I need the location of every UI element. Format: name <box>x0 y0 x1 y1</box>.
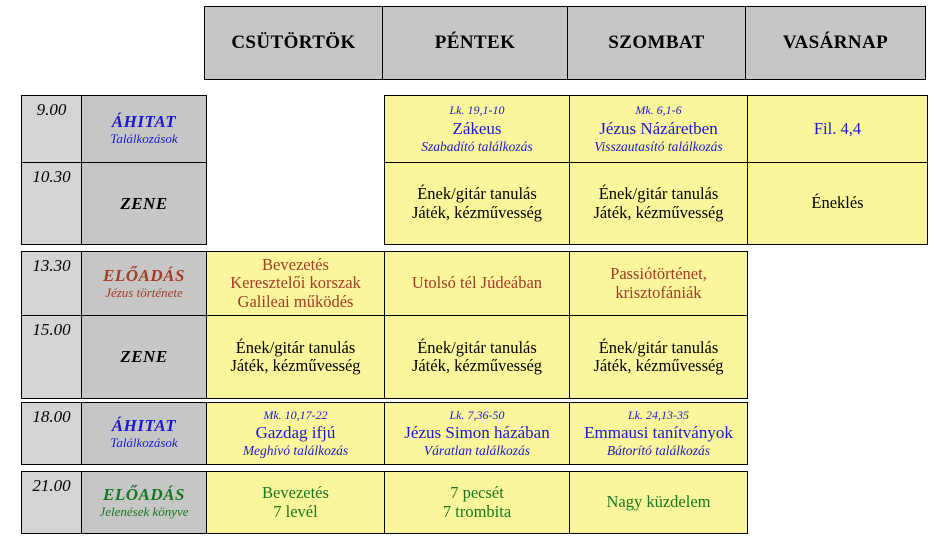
program-line: Ének/gitár tanulás <box>417 339 537 357</box>
empty-slot <box>748 403 928 465</box>
time-label: 18.00 <box>21 402 82 465</box>
activity-label-sub: Találkozások <box>110 436 177 451</box>
program-line: Játék, kézművesség <box>593 204 723 222</box>
empty-slot <box>748 472 928 534</box>
activity-label-cell: ÁHITATTalálkozások <box>81 402 207 465</box>
program-cell: Ének/gitár tanulásJáték, kézművesség <box>569 162 748 245</box>
program-cell: Passiótörténet,krisztofániák <box>569 251 748 316</box>
program-cell: Mk. 10,17-22Gazdag ifjúMeghívó találkozá… <box>206 402 385 465</box>
activity-label-main: ZENE <box>120 194 167 213</box>
program-title: Jézus Názáretben <box>599 119 717 138</box>
time-label: 10.30 <box>21 162 82 245</box>
program-line: Játék, kézművesség <box>412 357 542 375</box>
program-cell: 7 pecsét7 trombita <box>384 471 570 534</box>
day-header-2: PÉNTEK <box>382 6 568 80</box>
program-line: Játék, kézművesség <box>230 357 360 375</box>
weekly-schedule-table: CSÜTÖRTÖKPÉNTEKSZOMBATVASÁRNAP 9.00ÁHITA… <box>0 0 938 538</box>
program-subtitle: Bátorító találkozás <box>607 443 710 458</box>
activity-label-sub: Jelenések könyve <box>99 505 188 520</box>
program-subtitle: Meghívó találkozás <box>243 443 348 458</box>
day-header-3: SZOMBAT <box>567 6 746 80</box>
activity-label-main: ÁHITAT <box>112 416 176 435</box>
bible-reference: Lk. 19,1-10 <box>450 104 505 117</box>
time-label: 15.00 <box>21 315 82 399</box>
empty-slot <box>748 316 928 399</box>
activity-label-main: ELŐADÁS <box>103 266 185 285</box>
bible-reference: Lk. 7,36-50 <box>450 409 505 422</box>
program-line: Bevezetés <box>262 484 329 502</box>
day-header-1: CSÜTÖRTÖK <box>204 6 383 80</box>
program-cell: Lk. 24,13-35Emmausi tanítványokBátorító … <box>569 402 748 465</box>
program-line: Bevezetés <box>262 256 329 274</box>
time-label: 13.30 <box>21 251 82 316</box>
program-cell: Éneklés <box>747 162 928 245</box>
program-cell: Bevezetés7 levél <box>206 471 385 534</box>
program-title: Utolsó tél Júdeában <box>412 274 542 292</box>
program-cell: Mk. 6,1-6Jézus NázáretbenVisszautasító t… <box>569 95 748 163</box>
program-cell: Lk. 7,36-50Jézus Simon házábanVáratlan t… <box>384 402 570 465</box>
time-label: 21.00 <box>21 471 82 534</box>
bible-reference: Mk. 6,1-6 <box>635 104 681 117</box>
program-line: 7 trombita <box>443 503 511 521</box>
program-title: Jézus Simon házában <box>404 423 549 442</box>
time-label: 9.00 <box>21 95 82 163</box>
bible-reference: Lk. 24,13-35 <box>628 409 689 422</box>
program-line: Játék, kézművesség <box>412 204 542 222</box>
program-line: krisztofániák <box>615 284 701 302</box>
activity-label-sub: Jézus története <box>105 286 183 301</box>
activity-label-cell: ZENE <box>81 315 207 399</box>
activity-label-sub: Találkozások <box>110 132 177 147</box>
program-cell: Utolsó tél Júdeában <box>384 251 570 316</box>
empty-slot <box>207 96 385 163</box>
activity-label-cell: ZENE <box>81 162 207 245</box>
program-line: Játék, kézművesség <box>593 357 723 375</box>
program-cell: Lk. 19,1-10ZákeusSzabadító találkozás <box>384 95 570 163</box>
empty-slot <box>748 252 928 316</box>
program-cell: Fil. 4,4 <box>747 95 928 163</box>
program-subtitle: Visszautasító találkozás <box>594 139 722 154</box>
activity-label-main: ZENE <box>120 347 167 366</box>
program-line: 7 pecsét <box>450 484 504 502</box>
program-cell: BevezetésKeresztelői korszakGalileai műk… <box>206 251 385 316</box>
activity-label-cell: ÁHITATTalálkozások <box>81 95 207 163</box>
program-subtitle: Váratlan találkozás <box>424 443 530 458</box>
activity-label-cell: ELŐADÁSJézus története <box>81 251 207 316</box>
activity-label-main: ELŐADÁS <box>103 485 185 504</box>
program-line: Ének/gitár tanulás <box>236 339 356 357</box>
schedule-block-1: 9.00ÁHITATTalálkozásokLk. 19,1-10ZákeusS… <box>22 96 928 245</box>
program-cell: Ének/gitár tanulásJáték, kézművesség <box>384 315 570 399</box>
schedule-block-2: 13.30ELŐADÁSJézus történeteBevezetésKere… <box>22 252 928 399</box>
schedule-block-3: 18.00ÁHITATTalálkozásokMk. 10,17-22Gazda… <box>22 403 928 465</box>
program-cell: Nagy küzdelem <box>569 471 748 534</box>
program-line: Passiótörténet, <box>610 265 707 283</box>
activity-label-cell: ELŐADÁSJelenések könyve <box>81 471 207 534</box>
program-title: Zákeus <box>452 119 501 138</box>
program-line: Ének/gitár tanulás <box>599 185 719 203</box>
program-title: Nagy küzdelem <box>606 493 710 511</box>
program-title: Gazdag ifjú <box>256 423 336 442</box>
program-title: Éneklés <box>811 194 863 212</box>
program-cell: Ének/gitár tanulásJáték, kézművesség <box>384 162 570 245</box>
program-title: Fil. 4,4 <box>814 120 861 138</box>
schedule-block-4: 21.00ELŐADÁSJelenések könyveBevezetés7 l… <box>22 472 928 534</box>
program-line: Ének/gitár tanulás <box>599 339 719 357</box>
program-title: Emmausi tanítványok <box>584 423 733 442</box>
program-line: Galileai működés <box>238 293 354 311</box>
program-cell: Ének/gitár tanulásJáték, kézművesség <box>206 315 385 399</box>
program-line: Keresztelői korszak <box>230 274 361 292</box>
schedule-header-row: CSÜTÖRTÖKPÉNTEKSZOMBATVASÁRNAP <box>205 7 926 80</box>
program-cell: Ének/gitár tanulásJáték, kézművesség <box>569 315 748 399</box>
program-line: 7 levél <box>273 503 317 521</box>
activity-label-main: ÁHITAT <box>112 112 176 131</box>
day-header-4: VASÁRNAP <box>745 6 926 80</box>
empty-slot <box>207 163 385 245</box>
program-subtitle: Szabadító találkozás <box>421 139 532 154</box>
program-line: Ének/gitár tanulás <box>417 185 537 203</box>
bible-reference: Mk. 10,17-22 <box>263 409 327 422</box>
